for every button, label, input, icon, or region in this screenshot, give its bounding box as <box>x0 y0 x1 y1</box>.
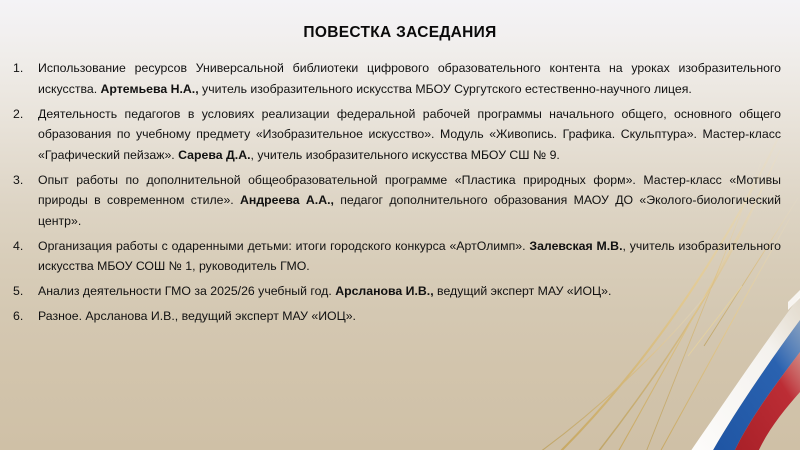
agenda-item-number: 2. <box>11 104 38 125</box>
agenda-item-number: 6. <box>11 306 38 327</box>
agenda-item-text: Разное. Арсланова И.В., ведущий эксперт … <box>38 306 783 327</box>
agenda-item-segment: , учитель изобразительного искусства МБО… <box>251 148 560 162</box>
slide-canvas: ПОВЕСТКА ЗАСЕДАНИЯ 1.Использование ресур… <box>0 0 800 450</box>
agenda-speaker-name: Арсланова И.В., <box>335 284 433 298</box>
agenda-item: 3.Опыт работы по дополнительной общеобра… <box>11 170 783 232</box>
agenda-speaker-name: Сарева Д.А. <box>178 148 250 162</box>
agenda-speaker-name: Андреева А.А., <box>240 193 334 207</box>
ribbon-red-stripe <box>734 352 800 450</box>
agenda-item-segment: Анализ деятельности ГМО за 2025/26 учебн… <box>38 284 335 298</box>
agenda-item-text: Опыт работы по дополнительной общеобразо… <box>38 170 783 232</box>
agenda-item: 5.Анализ деятельности ГМО за 2025/26 уче… <box>11 281 783 302</box>
agenda-item-segment: Организация работы с одаренными детьми: … <box>38 239 529 253</box>
agenda-item-number: 3. <box>11 170 38 191</box>
agenda-speaker-name: Артемьева Н.А., <box>101 82 199 96</box>
agenda-item-text: Организация работы с одаренными детьми: … <box>38 236 783 277</box>
agenda-list: 1.Использование ресурсов Универсальной б… <box>11 58 783 331</box>
agenda-item: 1.Использование ресурсов Универсальной б… <box>11 58 783 99</box>
agenda-item-number: 1. <box>11 58 38 79</box>
agenda-item-text: Анализ деятельности ГМО за 2025/26 учебн… <box>38 281 783 302</box>
agenda-item-text: Деятельность педагогов в условиях реализ… <box>38 104 783 166</box>
ribbon-blue-stripe <box>712 320 800 450</box>
page-title: ПОВЕСТКА ЗАСЕДАНИЯ <box>0 24 800 41</box>
agenda-speaker-name: Залевская М.В. <box>529 239 622 253</box>
ribbon-tip-highlight <box>788 290 800 310</box>
agenda-item-number: 4. <box>11 236 38 257</box>
agenda-item: 6.Разное. Арсланова И.В., ведущий экспер… <box>11 306 783 327</box>
agenda-item-segment: учитель изобразительного искусства МБОУ … <box>199 82 692 96</box>
agenda-item-text: Использование ресурсов Универсальной биб… <box>38 58 783 99</box>
agenda-item-segment: Разное. Арсланова И.В., ведущий эксперт … <box>38 309 356 323</box>
agenda-item-segment: ведущий эксперт МАУ «ИОЦ». <box>434 284 612 298</box>
agenda-item: 2.Деятельность педагогов в условиях реал… <box>11 104 783 166</box>
agenda-item: 4.Организация работы с одаренными детьми… <box>11 236 783 277</box>
agenda-item-number: 5. <box>11 281 38 302</box>
